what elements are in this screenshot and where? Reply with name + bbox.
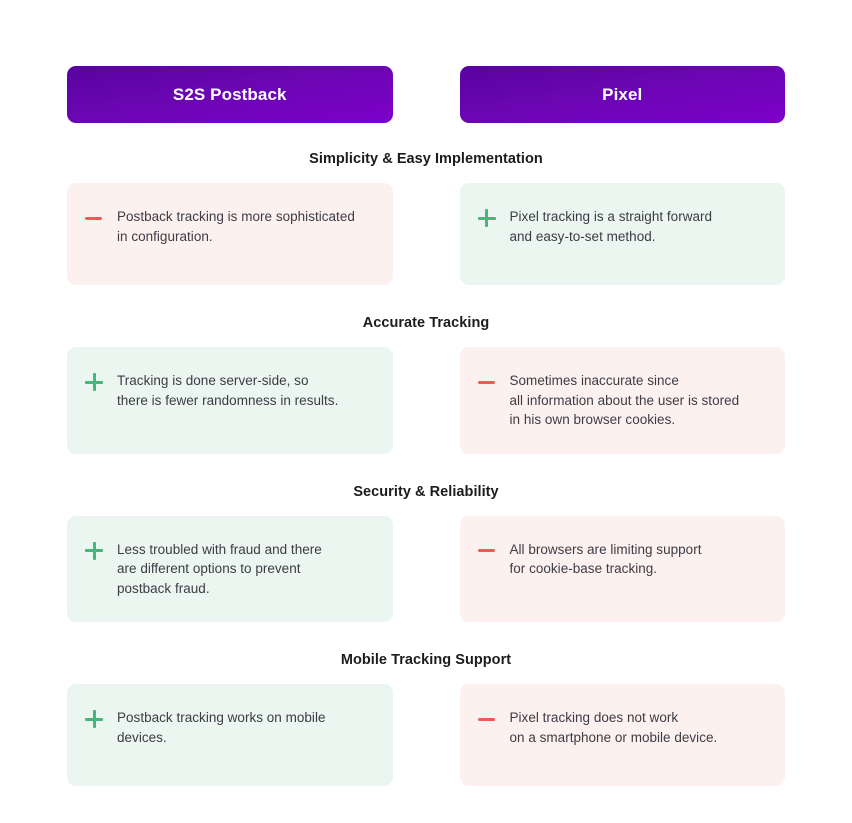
cell-pixel-accurate-tracking: Sometimes inaccurate since all informati… [460,347,786,454]
cell-text: Pixel tracking is a straight forward and… [510,207,713,246]
cell-text: Postback tracking is more sophisticated … [117,207,355,246]
cell-s2s-mobile: Postback tracking works on mobile device… [67,684,393,786]
section-title-security-reliability: Security & Reliability [67,484,785,500]
section-row: Less troubled with fraud and there are d… [67,516,785,623]
minus-icon [478,373,496,391]
minus-icon [85,209,103,227]
minus-icon [478,710,496,728]
section-title-mobile-tracking-support: Mobile Tracking Support [67,652,785,668]
plus-icon [85,542,103,560]
cell-pixel-simplicity: Pixel tracking is a straight forward and… [460,183,786,285]
cell-s2s-accurate-tracking: Tracking is done server-side, so there i… [67,347,393,454]
cell-text: Postback tracking works on mobile device… [117,708,326,747]
column-headers: S2S Postback Pixel [0,0,852,123]
cell-s2s-security: Less troubled with fraud and there are d… [67,516,393,623]
comparison-section: Accurate Tracking Tracking is done serve… [67,285,785,454]
comparison-section: Simplicity & Easy Implementation Postbac… [67,123,785,285]
section-title-accurate-tracking: Accurate Tracking [67,315,785,331]
comparison-section: Security & Reliability Less troubled wit… [67,454,785,623]
plus-icon [85,373,103,391]
cell-pixel-mobile: Pixel tracking does not work on a smartp… [460,684,786,786]
column-header-label: Pixel [602,85,642,105]
comparison-section: Mobile Tracking Support Postback trackin… [67,622,785,786]
column-header-label: S2S Postback [173,85,287,105]
minus-icon [478,542,496,560]
cell-pixel-security: All browsers are limiting support for co… [460,516,786,623]
section-row: Postback tracking works on mobile device… [67,684,785,786]
cell-text: Pixel tracking does not work on a smartp… [510,708,718,747]
plus-icon [85,710,103,728]
section-row: Postback tracking is more sophisticated … [67,183,785,285]
cell-text: All browsers are limiting support for co… [510,540,702,579]
cell-text: Less troubled with fraud and there are d… [117,540,322,599]
comparison-sections: Simplicity & Easy Implementation Postbac… [0,123,852,786]
column-header-s2s-postback: S2S Postback [67,66,393,123]
cell-text: Tracking is done server-side, so there i… [117,371,338,410]
cell-text: Sometimes inaccurate since all informati… [510,371,740,430]
column-header-pixel: Pixel [460,66,786,123]
plus-icon [478,209,496,227]
section-title-simplicity: Simplicity & Easy Implementation [67,151,785,167]
cell-s2s-simplicity: Postback tracking is more sophisticated … [67,183,393,285]
comparison-table: S2S Postback Pixel Simplicity & Easy Imp… [0,0,852,823]
section-row: Tracking is done server-side, so there i… [67,347,785,454]
